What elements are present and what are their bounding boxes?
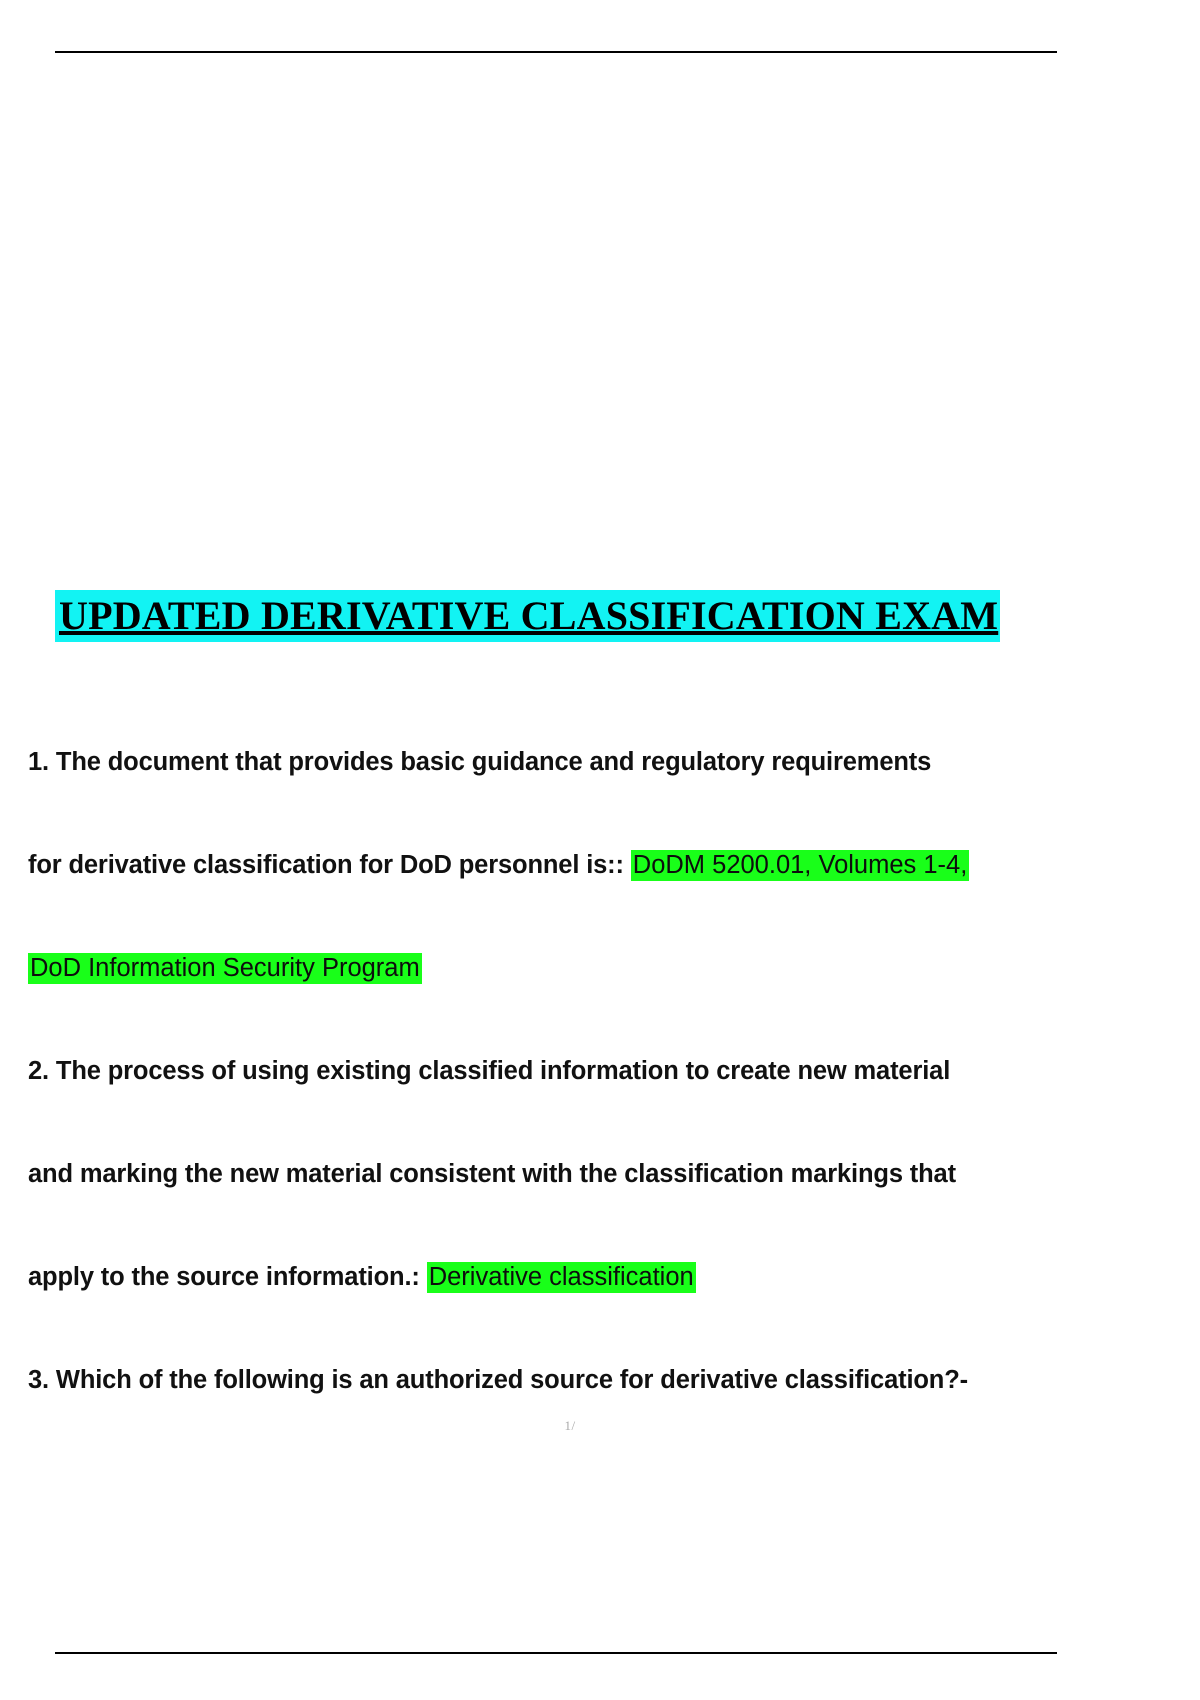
question-3-line-1: 3. Which of the following is an authoriz… (28, 1363, 1200, 1397)
question-2-line-3: apply to the source information.: Deriva… (28, 1260, 1200, 1294)
answer-2-highlight: Derivative classification (427, 1262, 696, 1293)
question-1-text-part-1: 1. The document that provides basic guid… (28, 748, 931, 776)
answer-1-highlight-line-2: DoD Information Security Program (28, 953, 422, 984)
question-2-line-1: 2. The process of using existing classif… (28, 1054, 1200, 1088)
document-page: UPDATED DERIVATIVE CLASSIFICATION EXAM 1… (0, 0, 1200, 1700)
page-number-footer: 1/ (0, 1418, 1140, 1434)
question-2-text-part-1: 2. The process of using existing classif… (28, 1057, 950, 1085)
question-1-text-part-2: for derivative classification for DoD pe… (28, 851, 624, 879)
answer-1-highlight-line-1: DoDM 5200.01, Volumes 1-4, (631, 850, 970, 881)
question-2-text-part-2: and marking the new material consistent … (28, 1160, 956, 1188)
header-divider-rule (55, 51, 1057, 53)
page-title: UPDATED DERIVATIVE CLASSIFICATION EXAM (55, 590, 1000, 642)
footer-divider-rule (55, 1652, 1057, 1654)
question-1-line-3: DoD Information Security Program (28, 951, 1200, 985)
question-1-line-2: for derivative classification for DoD pe… (28, 848, 1200, 882)
question-3-text-part-1: 3. Which of the following is an authoriz… (28, 1366, 968, 1394)
question-2-text-part-3: apply to the source information.: (28, 1263, 420, 1291)
question-1-line-1: 1. The document that provides basic guid… (28, 745, 1200, 779)
question-2-line-2: and marking the new material consistent … (28, 1157, 1200, 1191)
document-body: 1. The document that provides basic guid… (0, 735, 1200, 1435)
document-title-block: UPDATED DERIVATIVE CLASSIFICATION EXAM (0, 590, 1200, 642)
